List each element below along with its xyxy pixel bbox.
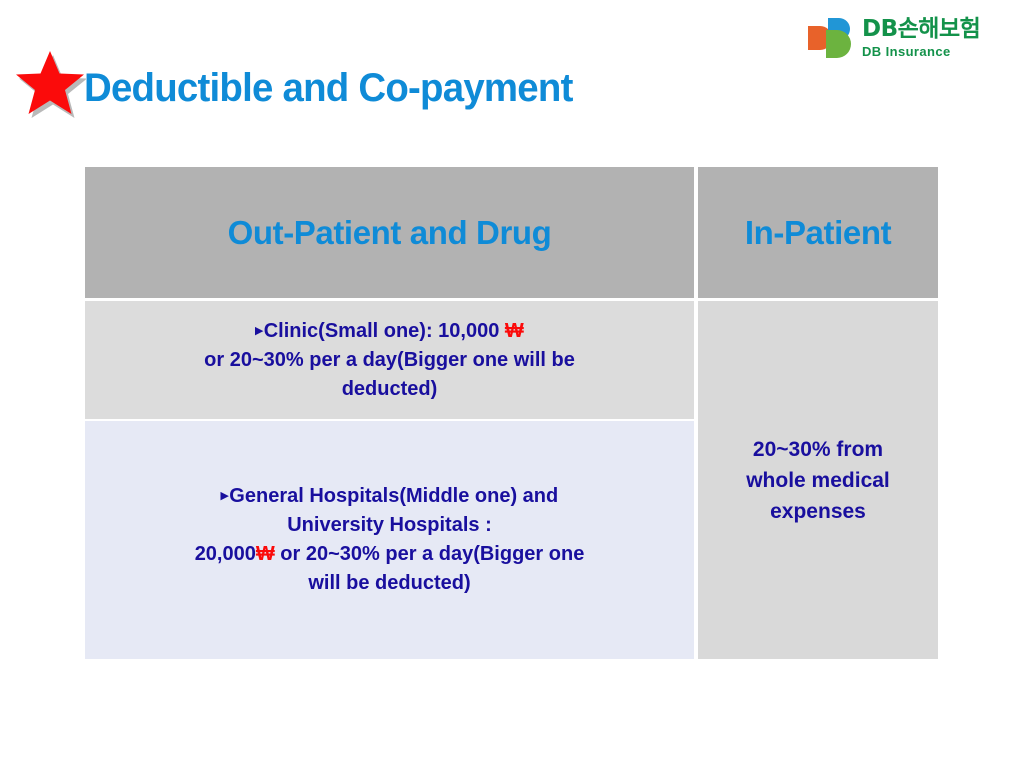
clinic-line-3: deducted) [342,378,438,400]
logo-korean-text: DB손해보험 [862,16,980,42]
won-symbol-icon: ₩ [256,543,275,565]
table-header-label: Out-Patient and Drug [85,214,694,252]
page-title: Deductible and Co-payment [84,66,573,111]
table-header-in-patient: In-Patient [698,167,938,298]
logo-english-text: DB Insurance [862,44,980,59]
table-header-label: In-Patient [698,214,938,252]
db-logo-mark [806,18,858,58]
clinic-line-2: or 20~30% per a day(Bigger one will be [204,349,575,371]
in-patient-line-3: expenses [770,500,866,523]
clinic-deductible-text: ▸Clinic(Small one): 10,000 ₩ or 20~30% p… [95,317,684,404]
hospitals-deductible-text: ▸General Hospitals(Middle one) and Unive… [95,482,684,598]
hospitals-line-1: General Hospitals(Middle one) and [229,485,558,507]
db-insurance-logo: DB손해보험 DB Insurance [806,16,1006,66]
clinic-line-1: Clinic(Small one): 10,000 [264,320,505,342]
hospitals-line-3-pre: 20,000 [195,543,256,565]
in-patient-copayment-cell: 20~30% from whole medical expenses [698,301,938,659]
in-patient-line-1: 20~30% from [753,438,883,461]
hospitals-line-4: will be deducted) [308,572,470,594]
table-row: ▸Clinic(Small one): 10,000 ₩ or 20~30% p… [85,301,694,419]
hospitals-line-2: University Hospitals : [287,514,492,536]
red-star-icon [14,48,86,118]
hospitals-line-3-post: or 20~30% per a day(Bigger one [275,543,585,565]
in-patient-copayment-text: 20~30% from whole medical expenses [708,434,928,527]
deductible-copayment-table: Out-Patient and Drug In-Patient ▸Clinic(… [85,167,938,659]
table-row: ▸General Hospitals(Middle one) and Unive… [85,421,694,659]
won-symbol-icon: ₩ [505,320,524,342]
bullet-triangle-icon: ▸ [255,323,263,338]
in-patient-line-2: whole medical [746,469,890,492]
table-header-out-patient-and-drug: Out-Patient and Drug [85,167,694,298]
bullet-triangle-icon: ▸ [221,488,229,503]
